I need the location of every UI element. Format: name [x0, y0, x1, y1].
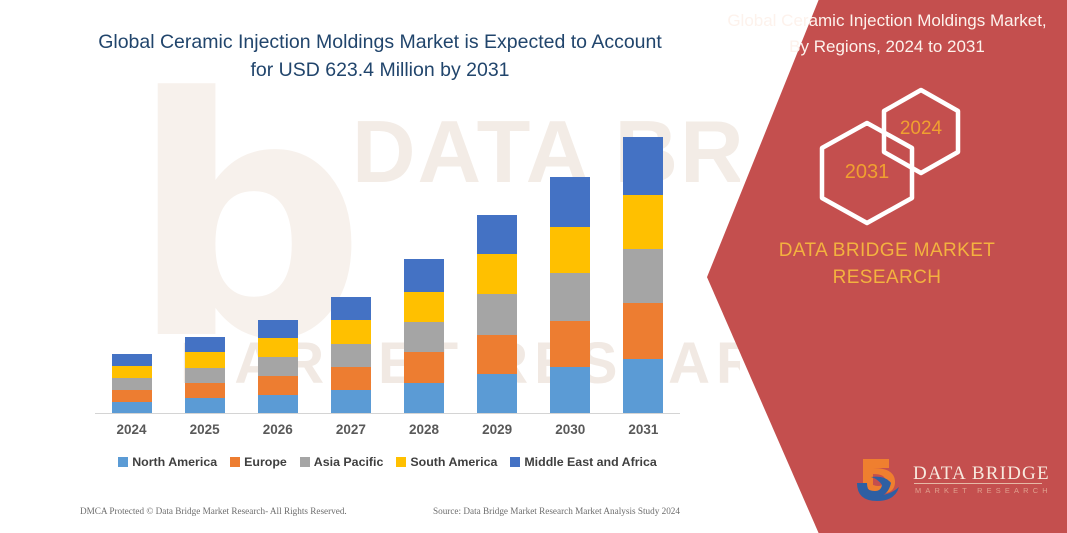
bar-segment	[112, 378, 152, 390]
bar-segment	[331, 367, 371, 390]
right-panel-content: Global Ceramic Injection Moldings Market…	[707, 0, 1067, 533]
bar-segment	[258, 357, 298, 376]
x-axis-label-2029: 2029	[461, 422, 533, 437]
bar-segment	[623, 249, 663, 303]
bar-segment	[404, 292, 444, 322]
legend-swatch-icon	[510, 457, 520, 467]
bar-segment	[112, 354, 152, 366]
infographic-page: b DATA BRIDGE MARKET RESEARCH Global Cer…	[0, 0, 1067, 533]
bar-2026	[258, 320, 298, 414]
x-axis-line	[95, 413, 680, 414]
bar-2025	[185, 337, 225, 414]
hexagon-2024-label: 2024	[875, 118, 967, 140]
bar-segment	[185, 352, 225, 368]
bar-segment	[185, 337, 225, 352]
logo-tagline: MARKET RESEARCH	[915, 486, 1052, 495]
footer-copyright: DMCA Protected © Data Bridge Market Rese…	[80, 506, 347, 516]
panel-brand-text: DATA BRIDGE MARKET RESEARCH	[737, 237, 1037, 291]
hexagon-group: 2031 2024	[707, 85, 1067, 205]
bar-segment	[477, 335, 517, 374]
stacked-bar-chart	[95, 120, 680, 414]
bar-segment	[477, 294, 517, 335]
bar-segment	[550, 177, 590, 227]
legend-label: Middle East and Africa	[524, 455, 656, 469]
x-axis-label-2031: 2031	[607, 422, 679, 437]
legend-label: Asia Pacific	[314, 455, 384, 469]
bar-segment	[185, 398, 225, 414]
legend-swatch-icon	[118, 457, 128, 467]
bar-segment	[623, 195, 663, 249]
bar-segment	[258, 320, 298, 338]
bar-segment	[258, 376, 298, 395]
bar-segment	[112, 390, 152, 402]
bar-2031	[623, 137, 663, 414]
footer-source: Source: Data Bridge Market Research Mark…	[433, 506, 680, 516]
legend-swatch-icon	[230, 457, 240, 467]
bar-segment	[550, 367, 590, 414]
bar-segment	[623, 359, 663, 414]
bar-segment	[331, 390, 371, 414]
x-axis-label-2024: 2024	[96, 422, 168, 437]
x-axis-label-2026: 2026	[242, 422, 314, 437]
logo-name: DATA BRIDGE	[913, 463, 1050, 485]
bar-segment	[404, 383, 444, 414]
bar-segment	[477, 215, 517, 254]
bar-segment	[550, 273, 590, 321]
legend-label: South America	[410, 455, 497, 469]
legend-label: Europe	[244, 455, 287, 469]
bar-segment	[185, 383, 225, 398]
bar-segment	[404, 259, 444, 292]
bar-segment	[112, 366, 152, 378]
legend-item: North America	[118, 455, 217, 469]
legend-item: Middle East and Africa	[510, 455, 656, 469]
bar-2029	[477, 215, 517, 414]
bar-2030	[550, 177, 590, 414]
bar-segment	[331, 297, 371, 320]
hexagon-2024: 2024	[875, 85, 967, 182]
bar-segment	[331, 320, 371, 344]
data-bridge-logo-icon	[855, 455, 909, 507]
bar-segment	[404, 352, 444, 383]
bar-segment	[623, 303, 663, 359]
bar-segment	[550, 227, 590, 273]
x-axis-labels: 20242025202620272028202920302031	[95, 422, 680, 444]
bar-segment	[477, 254, 517, 294]
chart-legend: North AmericaEuropeAsia PacificSouth Ame…	[95, 455, 680, 469]
x-axis-label-2028: 2028	[388, 422, 460, 437]
bar-2028	[404, 259, 444, 414]
legend-swatch-icon	[300, 457, 310, 467]
bar-segment	[404, 322, 444, 352]
bar-2024	[112, 354, 152, 414]
x-axis-label-2025: 2025	[169, 422, 241, 437]
bar-segment	[331, 344, 371, 367]
bar-segment	[477, 374, 517, 414]
bar-segment	[185, 368, 225, 383]
legend-item: Europe	[230, 455, 287, 469]
bar-segment	[258, 395, 298, 414]
legend-swatch-icon	[396, 457, 406, 467]
bar-2027	[331, 297, 371, 414]
legend-item: Asia Pacific	[300, 455, 384, 469]
legend-item: South America	[396, 455, 497, 469]
footer: DMCA Protected © Data Bridge Market Rese…	[80, 506, 680, 516]
x-axis-label-2027: 2027	[315, 422, 387, 437]
x-axis-label-2030: 2030	[534, 422, 606, 437]
legend-label: North America	[132, 455, 217, 469]
bar-segment	[550, 321, 590, 367]
data-bridge-logo: DATA BRIDGE MARKET RESEARCH	[855, 455, 1055, 515]
panel-title: Global Ceramic Injection Moldings Market…	[727, 8, 1047, 60]
bar-segment	[258, 338, 298, 357]
bar-segment	[623, 137, 663, 195]
chart-title: Global Ceramic Injection Moldings Market…	[95, 28, 665, 84]
